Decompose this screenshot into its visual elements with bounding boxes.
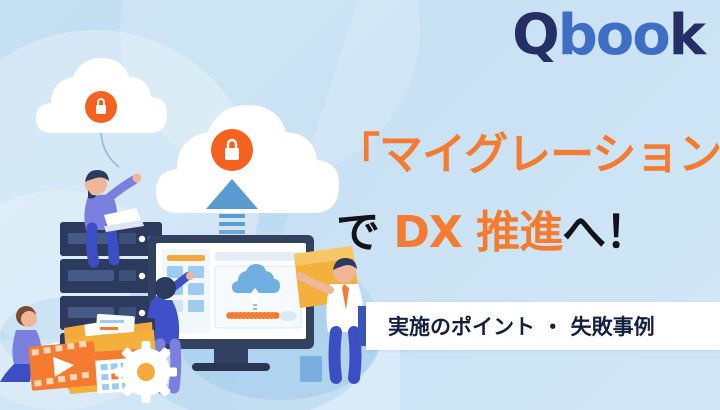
sub-banner-text: 実施のポイント ・ 失敗事例 bbox=[388, 311, 655, 341]
headline-line-2: で DX 推進へ！ bbox=[336, 196, 648, 260]
sub-banner-accent-bar bbox=[358, 306, 366, 346]
headline-line-2-prefix: で bbox=[336, 207, 393, 258]
headline-line-2-highlight: DX 推進 bbox=[393, 207, 562, 258]
headline-line-1: 「マイグレーション」 bbox=[336, 118, 720, 182]
logo-part-q: Q bbox=[512, 3, 558, 68]
qbook-logo[interactable]: Qbook bbox=[512, 8, 704, 64]
cloud-with-lock-small bbox=[36, 58, 167, 167]
gear-icon bbox=[115, 341, 177, 403]
cloud-with-lock-large bbox=[156, 105, 339, 213]
logo-part-boo: boo bbox=[558, 3, 669, 68]
promotional-banner: Qbook 「マイグレーション」 で DX 推進へ！ 実施のポイント ・ 失敗事… bbox=[0, 0, 720, 410]
sub-banner: 実施のポイント ・ 失敗事例 bbox=[366, 302, 720, 350]
logo-part-k: k bbox=[669, 3, 704, 68]
headline-line-2-suffix: へ！ bbox=[562, 207, 648, 258]
film-strip-icon bbox=[28, 341, 98, 391]
